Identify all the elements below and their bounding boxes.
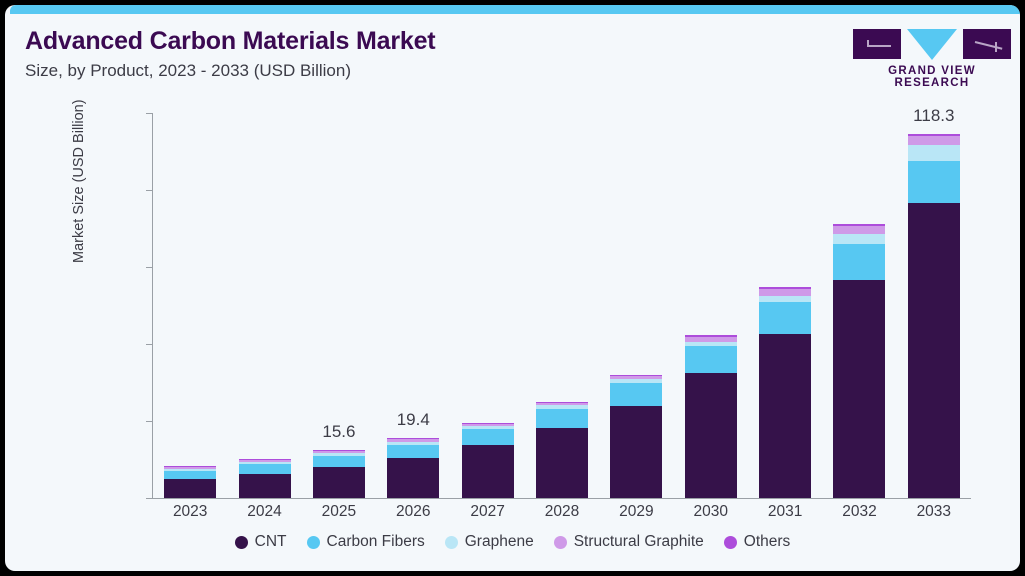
x-tick-label-2029: 2029	[596, 503, 676, 521]
x-axis-line	[152, 498, 971, 499]
logo-tick-left	[867, 40, 869, 46]
value-label-2026: 19.4	[373, 410, 453, 430]
bar-segment-carbon-fibers[interactable]	[536, 409, 588, 428]
bar-segment-graphene[interactable]	[239, 462, 291, 464]
bar-segment-structural-graphite[interactable]	[536, 403, 588, 405]
bar-2033[interactable]	[908, 134, 960, 498]
bar-segment-others[interactable]	[908, 134, 960, 136]
legend-label: CNT	[255, 533, 287, 551]
legend-swatch-icon	[307, 536, 320, 549]
x-tick-label-2024: 2024	[225, 503, 305, 521]
bar-segment-carbon-fibers[interactable]	[685, 346, 737, 372]
bar-segment-cnt[interactable]	[313, 467, 365, 498]
bar-2029[interactable]	[610, 375, 662, 498]
bar-segment-structural-graphite[interactable]	[685, 337, 737, 342]
bar-segment-others[interactable]	[833, 224, 885, 226]
bar-segment-cnt[interactable]	[908, 203, 960, 498]
bar-segment-structural-graphite[interactable]	[759, 289, 811, 295]
bar-segment-carbon-fibers[interactable]	[462, 429, 514, 445]
bar-segment-structural-graphite[interactable]	[908, 136, 960, 145]
bar-segment-others[interactable]	[387, 438, 439, 439]
bar-2032[interactable]	[833, 224, 885, 498]
logo-line-left	[867, 45, 891, 47]
bar-segment-others[interactable]	[164, 466, 216, 467]
y-tick	[146, 267, 153, 268]
x-tick-label-2028: 2028	[522, 503, 602, 521]
y-tick	[146, 113, 153, 114]
bar-segment-structural-graphite[interactable]	[462, 423, 514, 425]
bar-segment-others[interactable]	[610, 375, 662, 376]
bar-2031[interactable]	[759, 287, 811, 498]
bar-segment-graphene[interactable]	[536, 405, 588, 408]
bar-segment-structural-graphite[interactable]	[239, 460, 291, 462]
bar-segment-carbon-fibers[interactable]	[610, 383, 662, 406]
legend-label: Others	[744, 533, 791, 551]
bar-segment-structural-graphite[interactable]	[833, 226, 885, 234]
bar-segment-graphene[interactable]	[313, 453, 365, 455]
legend-label: Structural Graphite	[574, 533, 704, 551]
bar-segment-carbon-fibers[interactable]	[387, 445, 439, 458]
bar-segment-carbon-fibers[interactable]	[908, 161, 960, 203]
bar-segment-carbon-fibers[interactable]	[164, 471, 216, 479]
bar-segment-carbon-fibers[interactable]	[239, 464, 291, 473]
x-tick-label-2025: 2025	[299, 503, 379, 521]
y-tick	[146, 498, 153, 499]
bar-segment-cnt[interactable]	[685, 373, 737, 498]
page-subtitle: Size, by Product, 2023 - 2033 (USD Billi…	[25, 61, 351, 81]
bar-2027[interactable]	[462, 423, 514, 498]
bar-segment-cnt[interactable]	[610, 406, 662, 498]
bar-segment-cnt[interactable]	[239, 474, 291, 498]
legend-swatch-icon	[445, 536, 458, 549]
bar-segment-others[interactable]	[239, 459, 291, 460]
y-axis-title: Market Size (USD Billion)	[71, 99, 87, 263]
y-tick	[146, 190, 153, 191]
bar-segment-cnt[interactable]	[387, 458, 439, 498]
bar-segment-structural-graphite[interactable]	[313, 451, 365, 453]
bar-2030[interactable]	[685, 335, 737, 498]
x-tick-label-2030: 2030	[671, 503, 751, 521]
x-tick-label-2033: 2033	[894, 503, 974, 521]
top-accent-bar	[10, 5, 1020, 14]
bar-segment-others[interactable]	[759, 287, 811, 289]
x-tick-label-2031: 2031	[745, 503, 825, 521]
page-title: Advanced Carbon Materials Market	[25, 27, 435, 56]
x-tick-label-2023: 2023	[150, 503, 230, 521]
legend-item-others[interactable]: Others	[724, 533, 791, 551]
legend-swatch-icon	[554, 536, 567, 549]
bar-segment-structural-graphite[interactable]	[387, 439, 439, 442]
bar-segment-graphene[interactable]	[685, 342, 737, 347]
bar-segment-graphene[interactable]	[610, 379, 662, 383]
bar-segment-graphene[interactable]	[833, 234, 885, 244]
bar-segment-graphene[interactable]	[462, 426, 514, 429]
bar-segment-cnt[interactable]	[462, 445, 514, 498]
legend-swatch-icon	[724, 536, 737, 549]
legend-item-graphene[interactable]: Graphene	[445, 533, 534, 551]
bar-segment-cnt[interactable]	[164, 479, 216, 498]
bar-2028[interactable]	[536, 402, 588, 498]
chart-card: Advanced Carbon Materials Market Size, b…	[5, 5, 1020, 571]
bar-segment-cnt[interactable]	[536, 428, 588, 498]
bar-segment-carbon-fibers[interactable]	[313, 456, 365, 467]
legend-item-structural-graphite[interactable]: Structural Graphite	[554, 533, 704, 551]
legend-item-cnt[interactable]: CNT	[235, 533, 287, 551]
brand-logo: GRAND VIEW RESEARCH	[853, 29, 1011, 79]
legend-item-carbon-fibers[interactable]: Carbon Fibers	[307, 533, 425, 551]
bar-segment-graphene[interactable]	[164, 469, 216, 471]
legend-swatch-icon	[235, 536, 248, 549]
bar-segment-structural-graphite[interactable]	[164, 467, 216, 469]
bar-segment-cnt[interactable]	[759, 334, 811, 498]
logo-text: GRAND VIEW RESEARCH	[853, 65, 1011, 89]
bar-2025[interactable]	[313, 450, 365, 498]
y-tick	[146, 421, 153, 422]
chart-card-frame: Advanced Carbon Materials Market Size, b…	[0, 0, 1025, 576]
logo-tick-right	[995, 42, 997, 52]
bar-2023[interactable]	[164, 466, 216, 498]
logo-box-left	[853, 29, 901, 59]
x-tick-label-2026: 2026	[373, 503, 453, 521]
bar-segment-others[interactable]	[685, 335, 737, 337]
value-label-2033: 118.3	[894, 106, 974, 126]
bar-segment-carbon-fibers[interactable]	[833, 244, 885, 280]
bar-segment-carbon-fibers[interactable]	[759, 302, 811, 333]
bar-segment-others[interactable]	[536, 402, 588, 403]
bar-segment-graphene[interactable]	[759, 296, 811, 303]
bar-segment-cnt[interactable]	[833, 280, 885, 498]
bar-segment-graphene[interactable]	[908, 145, 960, 162]
x-tick-label-2027: 2027	[448, 503, 528, 521]
legend-label: Graphene	[465, 533, 534, 551]
bar-segment-others[interactable]	[313, 450, 365, 451]
chart-legend: CNTCarbon FibersGrapheneStructural Graph…	[5, 533, 1020, 551]
bar-segment-structural-graphite[interactable]	[610, 376, 662, 379]
bar-2024[interactable]	[239, 459, 291, 498]
bar-2026[interactable]	[387, 438, 439, 498]
y-tick	[146, 344, 153, 345]
logo-triangle-icon	[907, 29, 957, 60]
plot-area: Market Size (USD Billion) 0.025.050.075.…	[153, 113, 971, 498]
bar-segment-graphene[interactable]	[387, 442, 439, 445]
value-label-2025: 15.6	[299, 422, 379, 442]
x-tick-label-2032: 2032	[819, 503, 899, 521]
legend-label: Carbon Fibers	[327, 533, 425, 551]
bar-segment-others[interactable]	[462, 423, 514, 424]
